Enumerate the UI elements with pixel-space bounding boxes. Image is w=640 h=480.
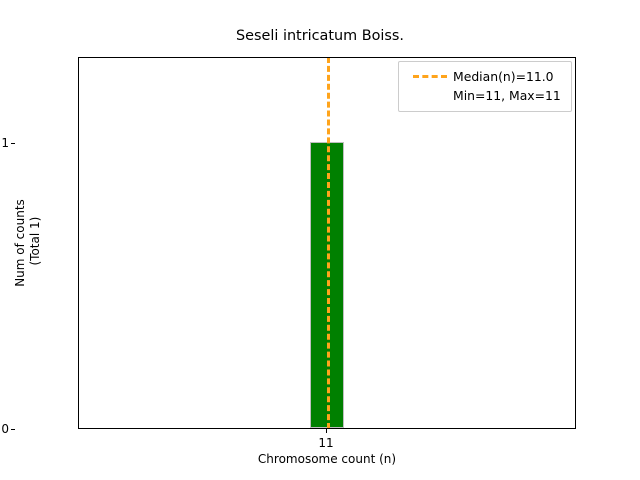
legend-label-minmax: Min=11, Max=11 xyxy=(453,89,561,103)
legend-label-median: Median(n)=11.0 xyxy=(453,70,554,84)
y-axis-label-wrapper: Num of counts (Total 1) xyxy=(0,57,56,429)
page-title: Seseli intricatum Boiss. xyxy=(0,28,640,45)
x-tick-mark-11 xyxy=(326,429,327,433)
plot-inner xyxy=(79,58,575,428)
legend-item-median: Median(n)=11.0 xyxy=(407,67,563,86)
y-tick-mark-0 xyxy=(11,429,15,430)
x-axis-label: Chromosome count (n) xyxy=(78,452,576,466)
median-line xyxy=(327,58,330,428)
legend-item-minmax: Min=11, Max=11 xyxy=(407,86,563,105)
legend[interactable]: Median(n)=11.0 Min=11, Max=11 xyxy=(398,61,572,112)
x-tick-label-11: 11 xyxy=(318,437,333,450)
plot-area xyxy=(78,57,576,429)
dashed-line-icon xyxy=(407,75,453,78)
y-axis-label: Num of counts (Total 1) xyxy=(13,199,43,287)
chart-figure: Seseli intricatum Boiss. 0 1 Num of coun… xyxy=(0,0,640,480)
